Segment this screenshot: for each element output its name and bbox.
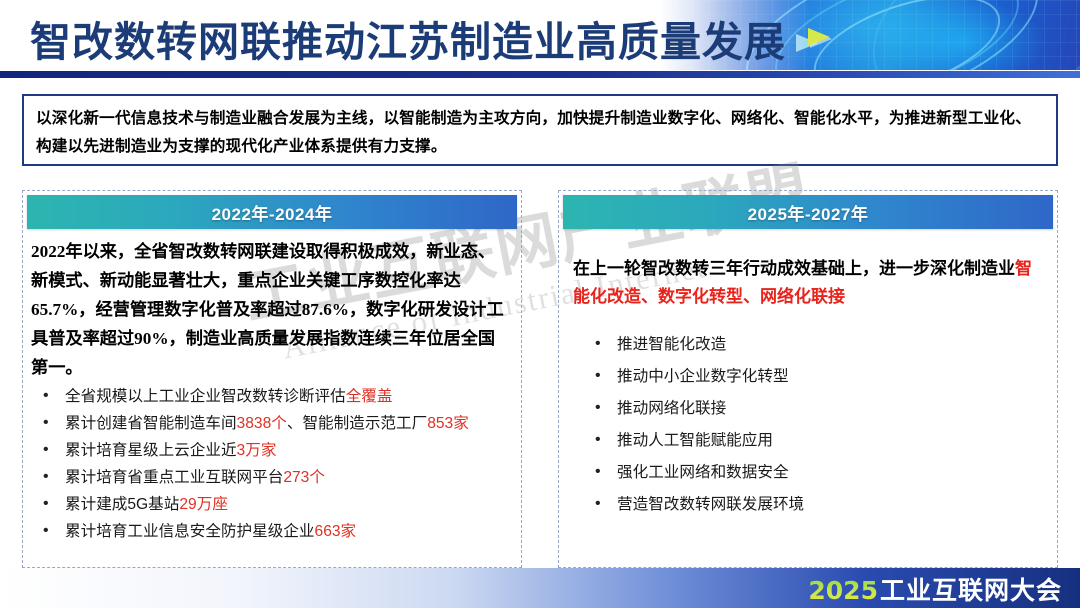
panel-left-lead-segment: 2022年以来，全省智改数转网联建设取得积极成效，新业态、新模式、新动能显著壮大… [31,242,504,377]
panel-left-bullet-segment: 3万家 [237,442,277,459]
conference-logo-year: 2025 [808,576,878,605]
panel-left-header: 2022年-2024年 [27,195,517,229]
panel-left-bullet-segment: 全省规模以上工业企业智改数转诊断评估 [65,388,346,405]
list-item: 推动网络化联接 [573,393,1047,424]
panel-right-lead-segment: 在上一轮智改数转三年行动成效基础上，进一步深化制造业 [573,259,1015,278]
panel-left-bullet-segment: 29万座 [179,496,228,513]
conference-logo-line: 2025 工业互联网大会 [803,571,1062,607]
panel-right-header-label: 2025年-2027年 [748,200,869,225]
panel-right-header: 2025年-2027年 [563,195,1053,229]
slide-header: 智改数转网联推动江苏制造业高质量发展 [0,0,1080,78]
panel-left-body: 2022年以来，全省智改数转网联建设取得积极成效，新业态、新模式、新动能显著壮大… [23,229,521,545]
panel-left-bullet-list: 全省规模以上工业企业智改数转诊断评估全覆盖累计创建省智能制造车间3838个、智能… [31,384,511,545]
list-item: 累计培育工业信息安全防护星级企业663家 [31,519,511,545]
intro-callout-box: 以深化新一代信息技术与制造业融合发展为主线，以智能制造为主攻方向，加快提升制造业… [22,94,1058,166]
panel-left-bullet-segment: 累计创建省智能制造车间 [65,415,237,432]
list-item: 累计创建省智能制造车间3838个、智能制造示范工厂853家 [31,411,511,437]
panel-left-bullet-segment: 全覆盖 [346,388,393,405]
panel-left-bullet-segment: 累计培育星级上云企业近 [65,442,237,459]
panel-right-lead-paragraph: 在上一轮智改数转三年行动成效基础上，进一步深化制造业智能化改造、数字化转型、网络… [573,255,1047,311]
panel-left-bullet-segment: 、智能制造示范工厂 [287,415,427,432]
panel-right-bullet-segment: 推进智能化改造 [617,336,726,353]
conference-logo-cn: 工业互联网大会 [880,571,1062,607]
list-item: 累计培育省重点工业互联网平台273个 [31,465,511,491]
list-item: 全省规模以上工业企业智改数转诊断评估全覆盖 [31,384,511,410]
panel-2025-2027: 2025年-2027年 在上一轮智改数转三年行动成效基础上，进一步深化制造业智能… [558,190,1058,568]
panel-right-bullet-segment: 推动网络化联接 [617,400,726,417]
slide-footer: 2025 工业互联网大会 INDUSTRIAL INTERNET CONFERE… [0,568,1080,608]
slide-root: 智改数转网联推动江苏制造业高质量发展 以深化新一代信息技术与制造业融合发展为主线… [0,0,1080,608]
panel-2022-2024: 2022年-2024年 2022年以来，全省智改数转网联建设取得积极成效，新业态… [22,190,522,568]
list-item: 累计培育星级上云企业近3万家 [31,438,511,464]
panel-right-body: 在上一轮智改数转三年行动成效基础上，进一步深化制造业智能化改造、数字化转型、网络… [559,229,1057,520]
title-divider [0,71,1080,78]
panel-right-bullet-segment: 强化工业网络和数据安全 [617,464,789,481]
panel-left-bullet-segment: 累计培育工业信息安全防护星级企业 [65,523,315,540]
panel-right-bullet-list: 推进智能化改造推动中小企业数字化转型推动网络化联接推动人工智能赋能应用强化工业网… [573,329,1047,520]
list-item: 推动中小企业数字化转型 [573,361,1047,392]
list-item: 推动人工智能赋能应用 [573,425,1047,456]
intro-text: 以深化新一代信息技术与制造业融合发展为主线，以智能制造为主攻方向，加快提升制造业… [36,105,1044,161]
panel-right-bullet-segment: 推动人工智能赋能应用 [617,432,773,449]
page-title: 智改数转网联推动江苏制造业高质量发展 [30,8,786,68]
arrow-icon [808,28,830,46]
panel-left-bullet-segment: 273个 [283,469,325,486]
panel-right-bullet-segment: 推动中小企业数字化转型 [617,368,789,385]
panel-left-bullet-segment: 853家 [427,415,469,432]
conference-logo: 2025 工业互联网大会 INDUSTRIAL INTERNET CONFERE… [803,571,1062,608]
panel-left-bullet-segment: 663家 [315,523,357,540]
panel-left-header-label: 2022年-2024年 [212,200,333,225]
panel-left-bullet-segment: 累计培育省重点工业互联网平台 [65,469,283,486]
list-item: 推进智能化改造 [573,329,1047,360]
panel-left-lead-paragraph: 2022年以来，全省智改数转网联建设取得积极成效，新业态、新模式、新动能显著壮大… [31,237,511,382]
list-item: 强化工业网络和数据安全 [573,457,1047,488]
panel-right-bullet-segment: 营造智改数转网联发展环境 [617,496,804,513]
list-item: 营造智改数转网联发展环境 [573,489,1047,520]
panel-left-bullet-segment: 累计建成5G基站 [65,496,179,513]
list-item: 累计建成5G基站29万座 [31,492,511,518]
panel-left-bullet-segment: 3838个 [237,415,287,432]
ring-decoration-icon [850,0,1080,78]
